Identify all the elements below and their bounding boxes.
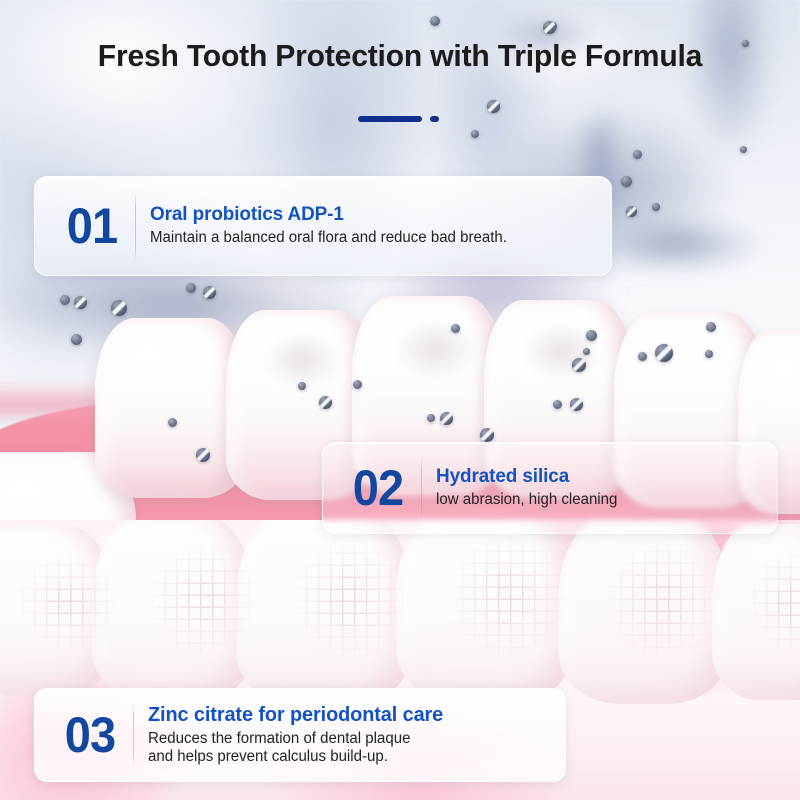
bubble-icon (553, 400, 562, 409)
bottom-tooth-6 (712, 524, 800, 700)
bubble-icon (633, 150, 642, 159)
bubble-icon (652, 203, 660, 211)
bubble-icon (638, 352, 647, 361)
bubble-icon (626, 206, 637, 217)
bubble-icon (740, 146, 747, 153)
tooth-groove-b (392, 318, 478, 380)
feature-number-03: 03 (50, 710, 131, 760)
bubble-icon (480, 428, 494, 442)
bubble-icon (572, 358, 586, 372)
infographic-canvas: Fresh Tooth Protection with Triple Formu… (0, 0, 800, 800)
bubble-icon (203, 286, 216, 299)
bubble-icon (583, 348, 590, 355)
bubble-icon (427, 414, 435, 422)
bubble-icon (655, 344, 673, 362)
feature-number-02: 02 (338, 463, 419, 513)
feature-body-03: Zinc citrate for periodontal care Reduce… (134, 704, 452, 767)
bubble-icon (706, 322, 716, 332)
bubble-icon (543, 21, 556, 34)
feature-heading-03: Zinc citrate for periodontal care (148, 704, 443, 727)
tooth-2 (95, 318, 247, 498)
bubble-icon (430, 16, 440, 26)
feature-card-03[interactable]: 03 Zinc citrate for periodontal care Red… (34, 688, 566, 782)
bubble-icon (451, 324, 460, 333)
bubble-icon (71, 334, 82, 345)
bubble-icon (60, 295, 70, 305)
divider-bar-icon (358, 116, 422, 122)
feature-description-03: Reduces the formation of dental plaque a… (148, 730, 443, 767)
bubble-icon (319, 396, 332, 409)
bubble-icon (570, 398, 583, 411)
bubble-icon (440, 412, 453, 425)
bottom-tooth-5 (558, 520, 730, 704)
feature-body-01: Oral probiotics ADP-1 Maintain a balance… (136, 204, 518, 247)
tooth-groove-a (262, 330, 342, 390)
bubble-icon (196, 448, 210, 462)
bubble-icon (168, 418, 177, 427)
divider-dot-icon (430, 116, 439, 122)
feature-card-02[interactable]: 02 Hydrated silica low abrasion, high cl… (322, 442, 778, 534)
bubble-icon (705, 350, 713, 358)
bubble-icon (186, 283, 196, 293)
bubble-icon (74, 296, 87, 309)
feature-description-02: low abrasion, high cleaning (436, 491, 617, 509)
feature-description-line: Maintain a balanced oral flora and reduc… (150, 229, 507, 247)
bubble-icon (298, 382, 306, 390)
feature-description-01: Maintain a balanced oral flora and reduc… (150, 229, 507, 247)
feature-description-line: Reduces the formation of dental plaque (148, 730, 443, 748)
bottom-tooth-4 (396, 520, 574, 704)
bubble-icon (471, 130, 479, 138)
bottom-tooth-2 (92, 520, 254, 702)
bubble-icon (353, 380, 362, 389)
title-divider (0, 112, 800, 126)
bubble-icon (586, 330, 597, 341)
feature-description-line: low abrasion, high cleaning (436, 491, 617, 509)
bubble-icon (621, 176, 632, 187)
feature-card-01[interactable]: 01 Oral probiotics ADP-1 Maintain a bala… (34, 176, 612, 276)
page-title: Fresh Tooth Protection with Triple Formu… (12, 38, 788, 74)
feature-number-01: 01 (52, 201, 133, 251)
bottom-tooth-3 (236, 520, 412, 706)
feature-body-02: Hydrated silica low abrasion, high clean… (422, 466, 623, 509)
feature-heading-01: Oral probiotics ADP-1 (150, 204, 507, 226)
bubble-icon (111, 300, 127, 316)
feature-heading-02: Hydrated silica (436, 466, 617, 488)
feature-description-line: and helps prevent calculus build-up. (148, 748, 443, 766)
